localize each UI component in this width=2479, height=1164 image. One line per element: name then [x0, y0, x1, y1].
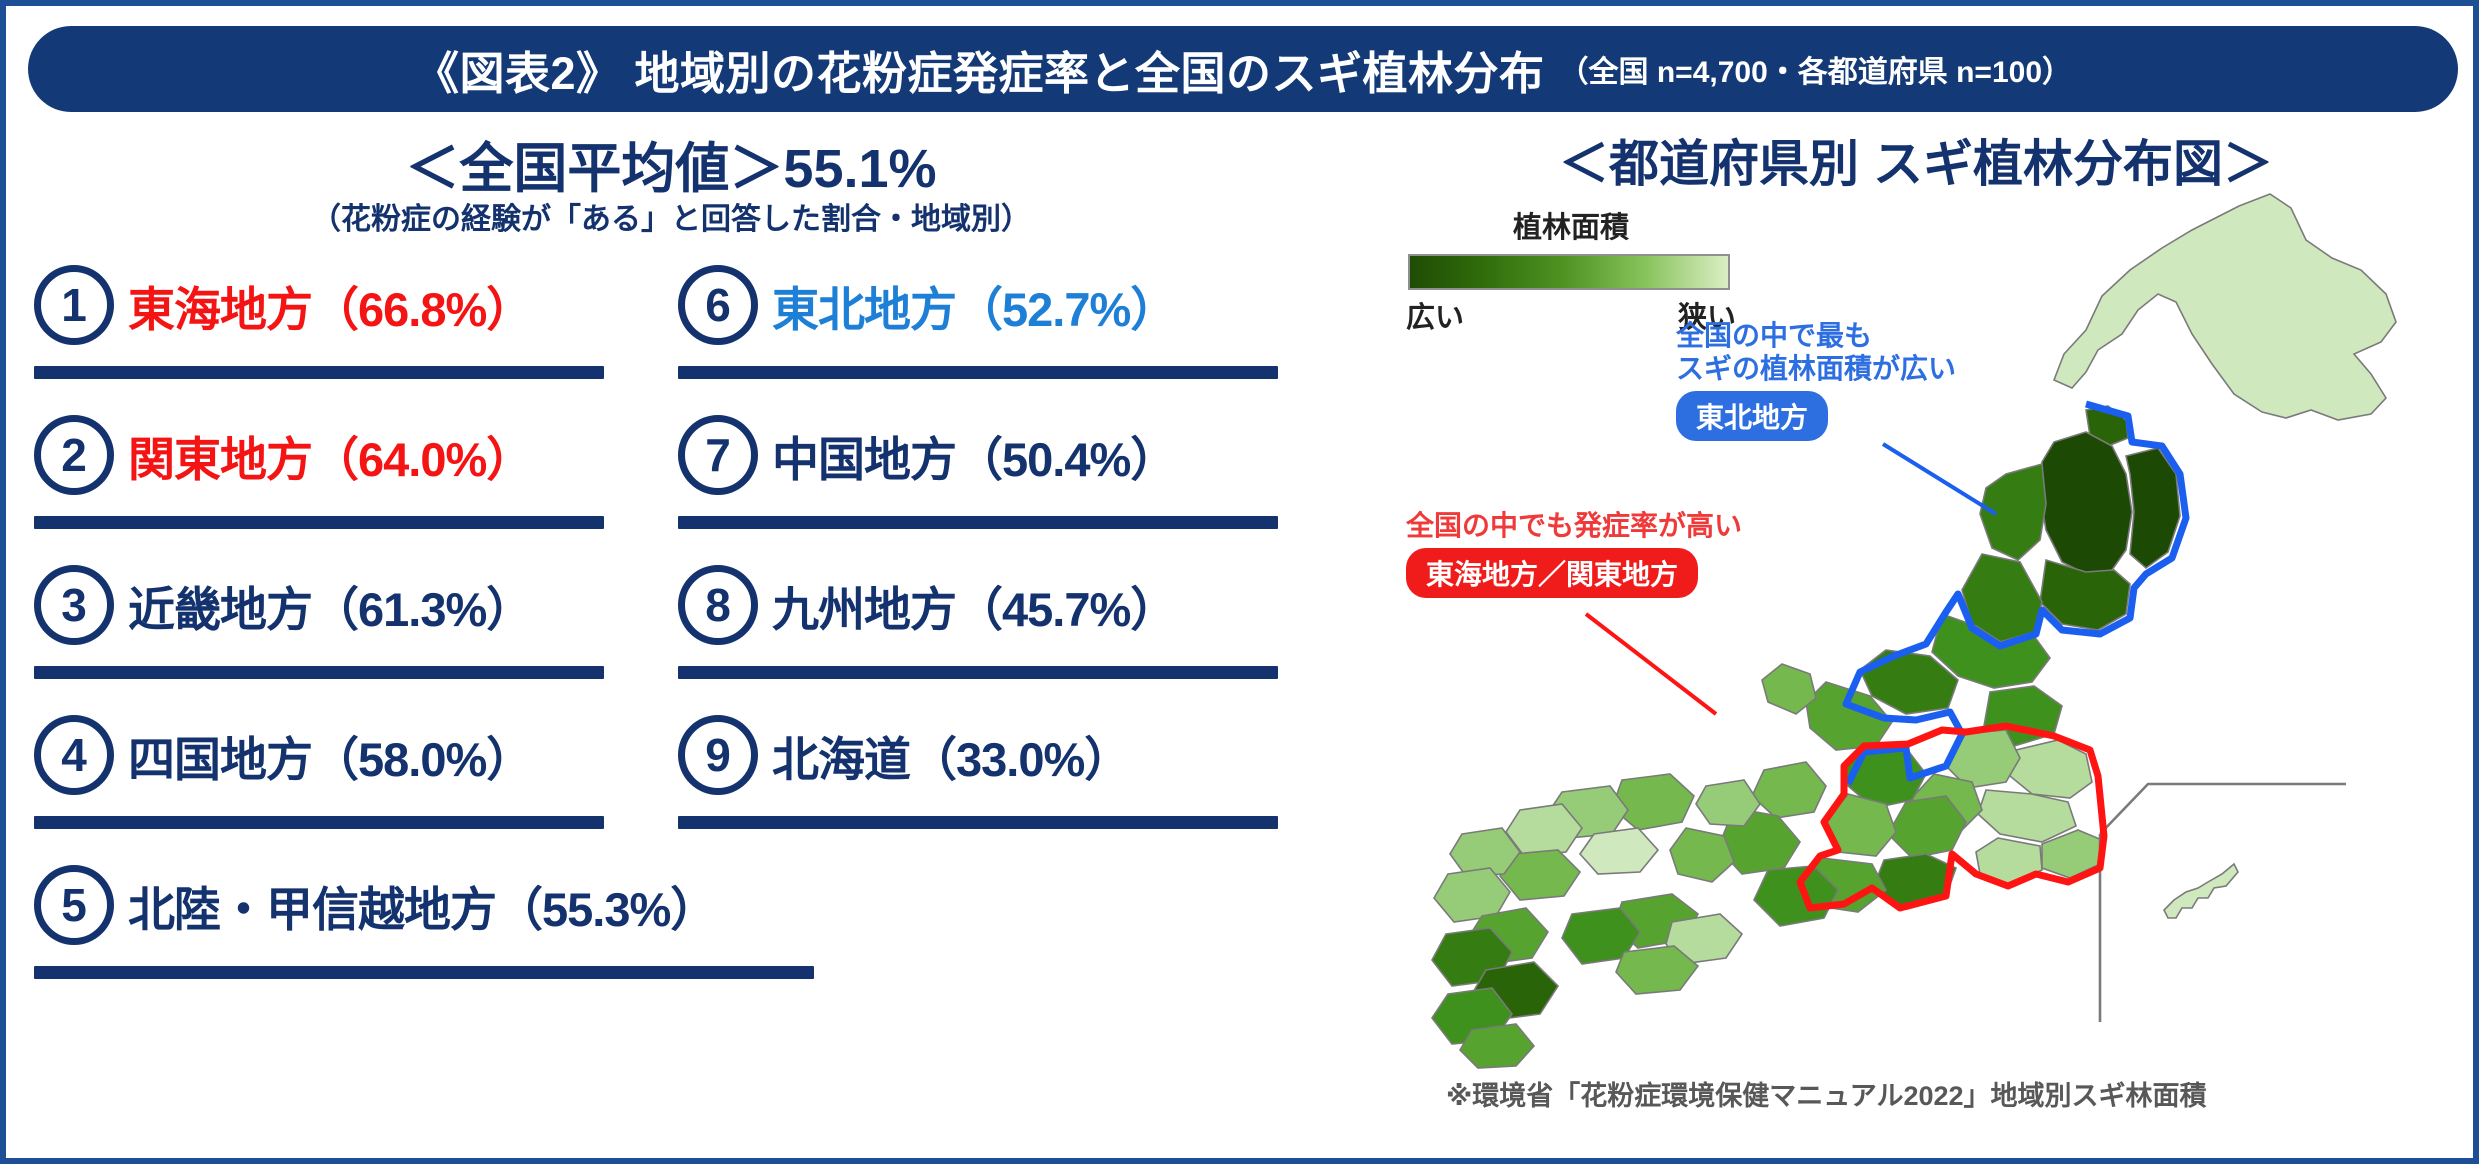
rank-badge: 1 — [34, 265, 114, 345]
callout-tokai-kanto-line1: 全国の中でも発症率が高い — [1406, 509, 1742, 542]
rank-badge: 5 — [34, 865, 114, 945]
rank-badge: 4 — [34, 715, 114, 795]
page-title-sample-size: （全国 n=4,700・各都道府県 n=100） — [1559, 47, 2073, 91]
rank-divider — [34, 666, 604, 679]
rank-divider — [34, 816, 604, 829]
map-footnote: ※環境省「花粉症環境保健マニュアル2022」地域別スギ林面積 — [1446, 1074, 2207, 1113]
map-region-kinki — [1670, 762, 1838, 926]
rank-badge: 7 — [678, 415, 758, 495]
map-region-shikoku — [1562, 894, 1742, 994]
rank-label: 関東地方（64.0%） — [128, 421, 532, 490]
rank-badge: 6 — [678, 265, 758, 345]
list-item[interactable]: 3 近畿地方（61.3%） — [34, 544, 674, 694]
list-item[interactable]: 7 中国地方（50.4%） — [678, 394, 1318, 544]
rank-divider — [678, 366, 1278, 379]
map-region-hokkaido — [2054, 194, 2396, 420]
rank-label: 近畿地方（61.3%） — [128, 571, 532, 640]
rank-divider — [34, 966, 814, 979]
page-frame: 《図表2》 地域別の花粉症発症率と全国のスギ植林分布 （全国 n=4,700・各… — [0, 0, 2479, 1164]
chart-title-bar: 《図表2》 地域別の花粉症発症率と全国のスギ植林分布 （全国 n=4,700・各… — [28, 26, 2458, 112]
list-item[interactable]: 9 北海道（33.0%） — [678, 694, 1318, 844]
ranking-column-left: 1 東海地方（66.8%） 2 関東地方（64.0%） 3 近畿地方（61.3%… — [34, 244, 674, 994]
list-item[interactable]: 2 関東地方（64.0%） — [34, 394, 674, 544]
list-item[interactable]: 6 東北地方（52.7%） — [678, 244, 1318, 394]
rank-badge: 9 — [678, 715, 758, 795]
callout-tohoku-line1: 全国の中で最も — [1676, 319, 1956, 352]
callout-tohoku: 全国の中で最も スギの植林面積が広い 東北地方 — [1676, 319, 1956, 441]
callout-tokai-kanto-badge: 東海地方／関東地方 — [1406, 548, 1698, 598]
rank-label: 九州地方（45.7%） — [772, 571, 1176, 640]
callout-tohoku-line2: スギの植林面積が広い — [1676, 352, 1956, 385]
rank-label: 北海道（33.0%） — [772, 721, 1130, 790]
rank-badge: 3 — [34, 565, 114, 645]
rank-divider — [34, 516, 604, 529]
list-item[interactable]: 4 四国地方（58.0%） — [34, 694, 674, 844]
list-item[interactable]: 1 東海地方（66.8%） — [34, 244, 674, 394]
callout-tokai-kanto: 全国の中でも発症率が高い 東海地方／関東地方 — [1406, 509, 1742, 598]
rank-divider — [678, 816, 1278, 829]
rank-label: 東北地方（52.7%） — [772, 271, 1176, 340]
rank-label: 中国地方（50.4%） — [772, 421, 1176, 490]
ranking-panel: ＜全国平均値＞55.1% （花粉症の経験が「ある」と回答した割合・地域別） 1 … — [6, 114, 1406, 1164]
national-average-subtitle: （花粉症の経験が「ある」と回答した割合・地域別） — [6, 194, 1336, 238]
rank-divider — [678, 666, 1278, 679]
rank-divider — [678, 516, 1278, 529]
rank-badge: 2 — [34, 415, 114, 495]
map-panel: ＜都道府県別 スギ植林分布図＞ 植林面積 広い 狭い .pf{stroke:#7… — [1386, 114, 2476, 1164]
rank-label: 東海地方（66.8%） — [128, 271, 532, 340]
rank-label: 北陸・甲信越地方（55.3%） — [128, 871, 716, 940]
list-item[interactable]: 5 北陸・甲信越地方（55.3%） — [34, 844, 674, 994]
national-average-heading: ＜全国平均値＞55.1% — [6, 124, 1336, 203]
callout-tohoku-badge: 東北地方 — [1676, 391, 1828, 441]
page-title: 《図表2》 地域別の花粉症発症率と全国のスギ植林分布 — [414, 37, 1545, 102]
ranking-column-right: 6 東北地方（52.7%） 7 中国地方（50.4%） 8 九州地方（45.7%… — [678, 244, 1318, 844]
list-item[interactable]: 8 九州地方（45.7%） — [678, 544, 1318, 694]
rank-divider — [34, 366, 604, 379]
rank-label: 四国地方（58.0%） — [128, 721, 532, 790]
rank-badge: 8 — [678, 565, 758, 645]
okinawa-inset-frame — [2100, 784, 2346, 1022]
japan-choropleth-map: .pf{stroke:#7a7a7a;stroke-width:1.6;} .c… — [1386, 174, 2446, 1074]
